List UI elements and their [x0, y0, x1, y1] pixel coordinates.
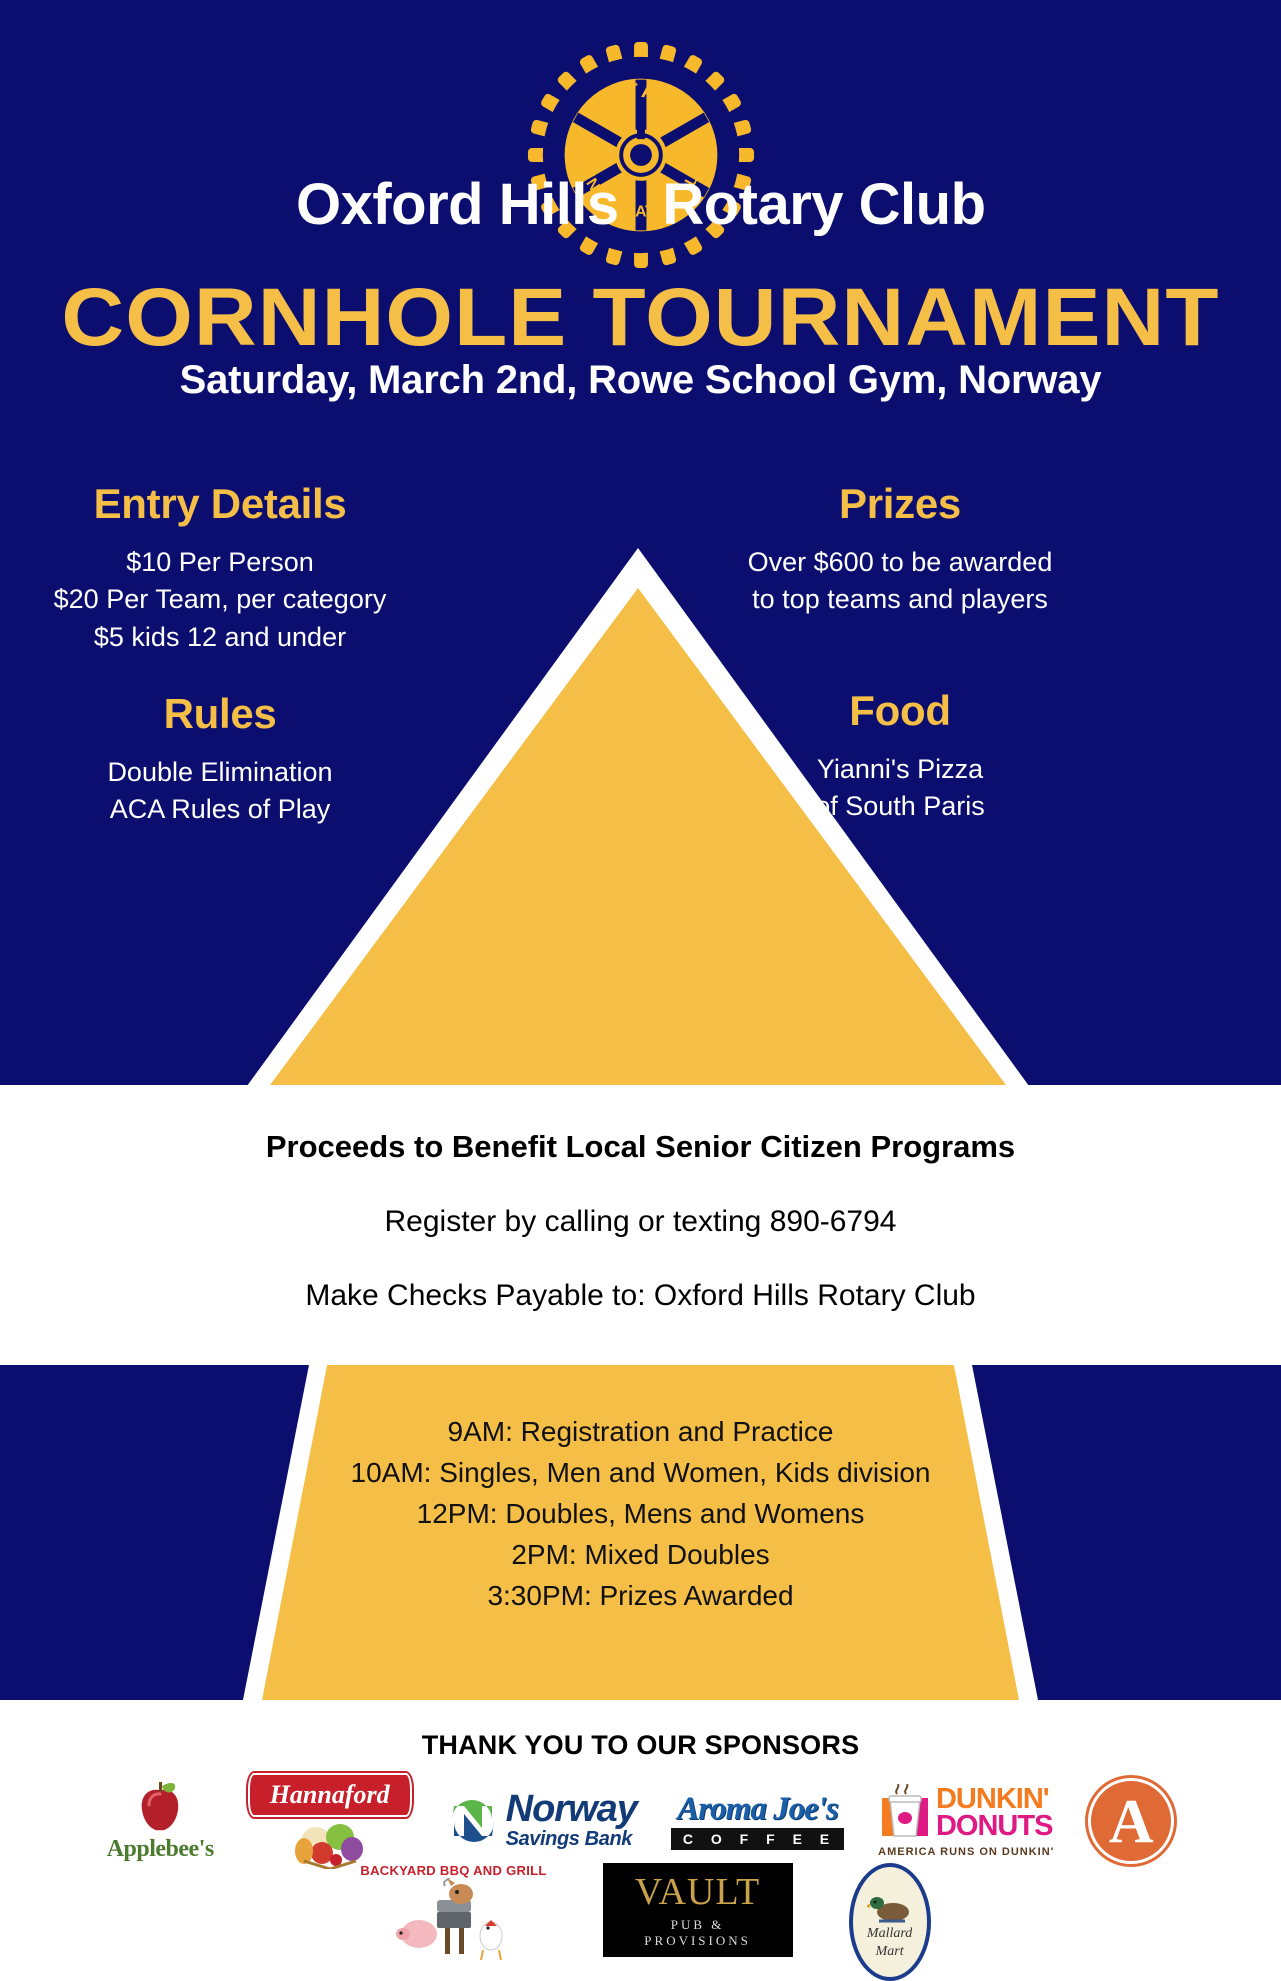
- food-heading: Food: [620, 687, 1180, 735]
- rules-heading: Rules: [10, 690, 430, 738]
- apple-icon: [134, 1780, 186, 1834]
- sponsor-label-hannaford: Hannaford: [248, 1773, 412, 1817]
- coffee-cup-icon: [880, 1784, 930, 1842]
- sponsor-logo-norway-savings-bank: Norway Savings Bank: [446, 1791, 637, 1850]
- poster-header: ROTARY INTERNATIONAL Oxford Hills Rotary…: [0, 0, 1281, 520]
- sponsor-label-applebees: Applebee's: [107, 1836, 214, 1863]
- produce-basket-icon: [282, 1817, 378, 1869]
- left-info-column: Entry Details $10 Per Person $20 Per Tea…: [10, 480, 430, 828]
- sponsor-row-1: Applebee's Hannaford Norway Sa: [0, 1773, 1281, 1869]
- sponsor-sublabel-dunkin: AMERICA RUNS ON DUNKIN': [878, 1846, 1054, 1858]
- event-title: CORNHOLE TOURNAMENT: [0, 271, 1281, 365]
- schedule-item: 9AM: Registration and Practice: [0, 1412, 1281, 1453]
- sponsor-logo-a-circle: A: [1088, 1778, 1174, 1864]
- sponsor-sublabel-vault: PUB & PROVISIONS: [623, 1917, 773, 1949]
- spacer: [10, 656, 430, 690]
- entry-details-line: $5 kids 12 and under: [10, 619, 430, 656]
- mallard-oval-frame: Mallard Mart: [849, 1863, 931, 1981]
- dunkin-lockup: DUNKIN' DONUTS: [880, 1784, 1052, 1842]
- rules-line: Double Elimination: [10, 754, 430, 791]
- entry-details-line: $20 Per Team, per category: [10, 581, 430, 618]
- sponsor-label-mallard: Mallard: [867, 1925, 912, 1943]
- sponsor-label-a-circle: A: [1088, 1778, 1174, 1864]
- schedule-item: 2PM: Mixed Doubles: [0, 1535, 1281, 1576]
- sponsor-logo-vault-pub-and-provisions: VAULT PUB & PROVISIONS: [603, 1863, 793, 1957]
- sponsor-label-donuts: DONUTS: [936, 1813, 1052, 1840]
- sponsor-label-dunkin: DUNKIN': [936, 1786, 1052, 1813]
- prizes-line: Over $600 to be awarded: [620, 544, 1180, 581]
- sponsor-logo-aroma-joes: Aroma Joe's C O F F E E: [671, 1793, 844, 1850]
- event-schedule: 9AM: Registration and Practice 10AM: Sin…: [0, 1412, 1281, 1616]
- sponsor-sublabel-aroma-joes: C O F F E E: [671, 1828, 844, 1850]
- sponsors-title: THANK YOU TO OUR SPONSORS: [0, 1730, 1281, 1761]
- sponsor-logo-dunkin-donuts: DUNKIN' DONUTS AMERICA RUNS ON DUNKIN': [878, 1784, 1054, 1858]
- sponsor-logo-applebees: Applebee's: [107, 1780, 214, 1863]
- proceeds-benefit-text: Proceeds to Benefit Local Senior Citizen…: [0, 1129, 1281, 1165]
- checks-payable-text: Make Checks Payable to: Oxford Hills Rot…: [0, 1279, 1281, 1313]
- schedule-item: 12PM: Doubles, Mens and Womens: [0, 1494, 1281, 1535]
- food-line: of South Paris: [620, 788, 1180, 825]
- sponsors-section: THANK YOU TO OUR SPONSORS Applebee's Han…: [0, 1700, 1281, 1980]
- sponsor-label-norway: Norway: [506, 1791, 637, 1827]
- spacer: [620, 619, 1180, 653]
- sponsor-sublabel-mallard: Mart: [876, 1943, 904, 1961]
- norway-n-mark-icon: [446, 1794, 500, 1848]
- sponsor-label-backyard-bbq: BACKYARD BBQ AND GRILL: [360, 1863, 546, 1878]
- club-name-left: Oxford Hills: [203, 176, 633, 234]
- food-line: Yianni's Pizza: [620, 751, 1180, 788]
- sponsor-row-2: BACKYARD BBQ AND GRILL VAULT: [0, 1863, 1281, 1981]
- club-name-right: Rotary Club: [648, 176, 1078, 234]
- sponsor-label-vault: VAULT: [635, 1873, 760, 1911]
- spacer: [620, 653, 1180, 687]
- bbq-grill-animals-icon: [393, 1878, 513, 1964]
- prizes-line: to top teams and players: [620, 581, 1180, 618]
- schedule-item: 10AM: Singles, Men and Women, Kids divis…: [0, 1453, 1281, 1494]
- rotary-international-logo: ROTARY INTERNATIONAL: [522, 36, 760, 274]
- schedule-item: 3:30PM: Prizes Awarded: [0, 1576, 1281, 1617]
- event-subtitle: Saturday, March 2nd, Rowe School Gym, No…: [0, 358, 1281, 403]
- sponsor-label-aroma-joes: Aroma Joe's: [677, 1793, 837, 1826]
- sponsor-logo-mallard-mart: Mallard Mart: [849, 1863, 931, 1981]
- sponsor-logo-hannaford: Hannaford: [248, 1773, 412, 1869]
- benefit-and-contact-section: Proceeds to Benefit Local Senior Citizen…: [0, 1085, 1281, 1365]
- prizes-heading: Prizes: [620, 480, 1180, 528]
- entry-details-line: $10 Per Person: [10, 544, 430, 581]
- sponsor-logo-backyard-bbq-and-grill: BACKYARD BBQ AND GRILL: [360, 1863, 546, 1964]
- right-info-column: Prizes Over $600 to be awarded to top te…: [620, 480, 1180, 825]
- rules-line: ACA Rules of Play: [10, 791, 430, 828]
- sponsor-sublabel-norway: Savings Bank: [506, 1828, 637, 1851]
- register-phone-text: Register by calling or texting 890-6794: [0, 1205, 1281, 1239]
- mallard-duck-icon: [867, 1893, 913, 1923]
- club-name-line: Oxford Hills Rotary Club: [0, 176, 1281, 234]
- entry-details-heading: Entry Details: [10, 480, 430, 528]
